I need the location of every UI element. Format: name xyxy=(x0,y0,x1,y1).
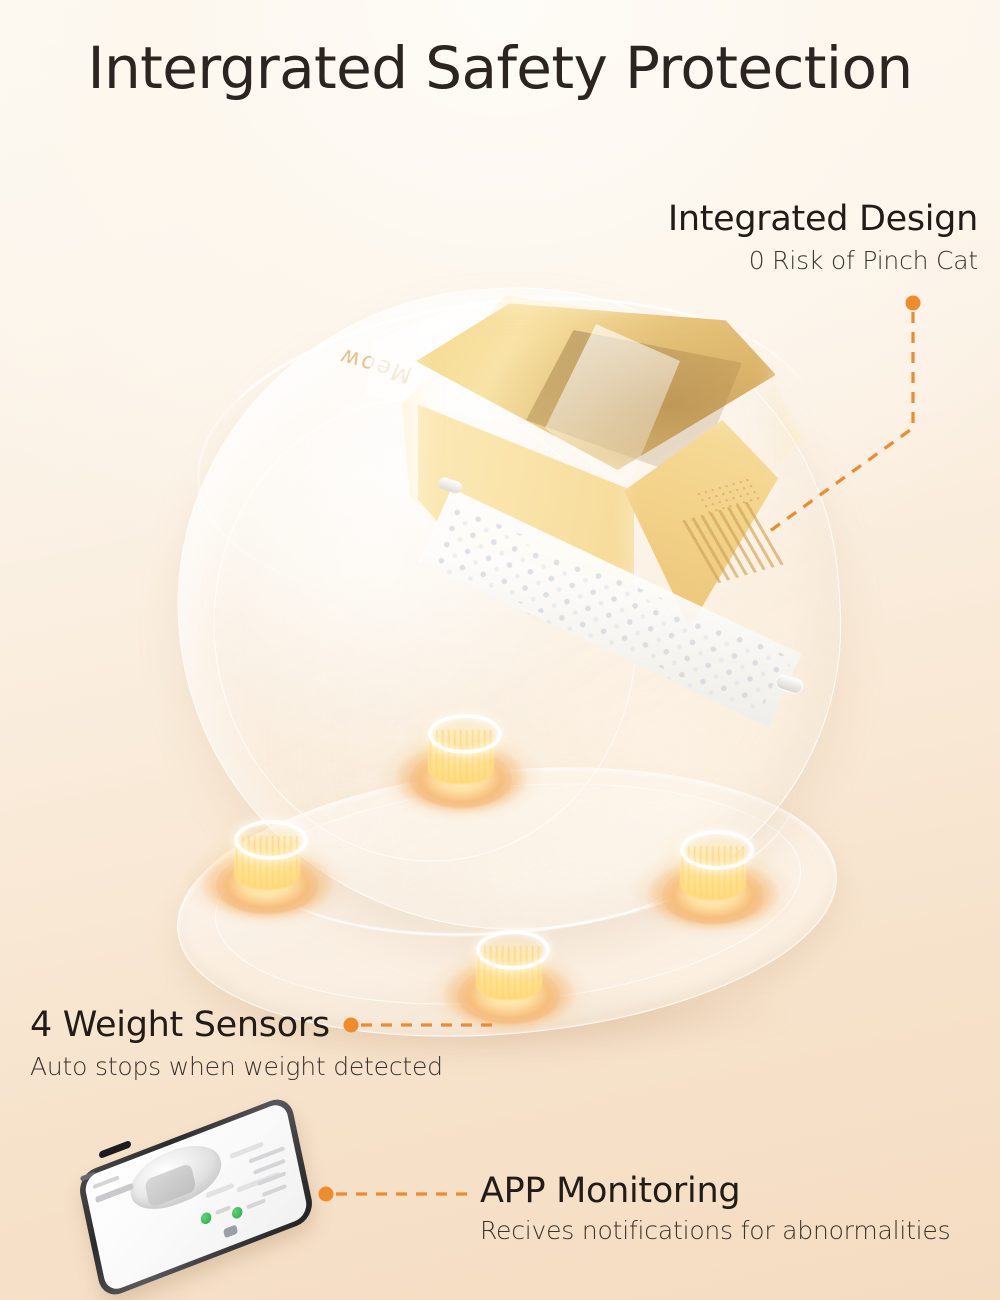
app-action-label xyxy=(215,1205,231,1215)
weight-sensor-top xyxy=(366,712,556,830)
app-action-label xyxy=(246,1198,266,1209)
callout-title: Integrated Design xyxy=(668,200,978,239)
sensor-top-ring xyxy=(680,830,754,870)
app-list-row[interactable] xyxy=(262,1184,287,1197)
callout-subtitle: Recives notifications for abnormalities xyxy=(480,1215,950,1246)
app-status-bar xyxy=(93,1175,120,1189)
callout-title: APP Monitoring xyxy=(480,1172,950,1211)
weight-sensor-right xyxy=(618,828,808,946)
weight-sensor-left xyxy=(172,818,362,936)
product-illustration: Meow xyxy=(0,0,1000,1300)
callout-title: 4 Weight Sensors xyxy=(30,1006,443,1045)
callout-subtitle: Auto stops when weight detected xyxy=(30,1051,443,1082)
sensor-top-ring xyxy=(234,820,308,860)
callout-integrated-design: Integrated Design 0 Risk of Pinch Cat xyxy=(668,200,978,276)
sensor-top-ring xyxy=(476,930,550,970)
product-feature-graphic: Intergrated Safety Protection Meow xyxy=(0,0,1000,1300)
app-action-button-empty[interactable] xyxy=(231,1205,244,1220)
app-bottom-icon[interactable] xyxy=(223,1224,238,1238)
callout-weight-sensors: 4 Weight Sensors Auto stops when weight … xyxy=(30,1006,443,1082)
ramp-pin-left xyxy=(437,476,464,495)
sensor-top-ring xyxy=(428,714,502,754)
callout-app-monitoring: APP Monitoring Recives notifications for… xyxy=(480,1172,950,1246)
callout-subtitle: 0 Risk of Pinch Cat xyxy=(668,245,978,276)
phone-mockup xyxy=(72,1122,322,1274)
app-action-button-clean[interactable] xyxy=(200,1211,213,1226)
